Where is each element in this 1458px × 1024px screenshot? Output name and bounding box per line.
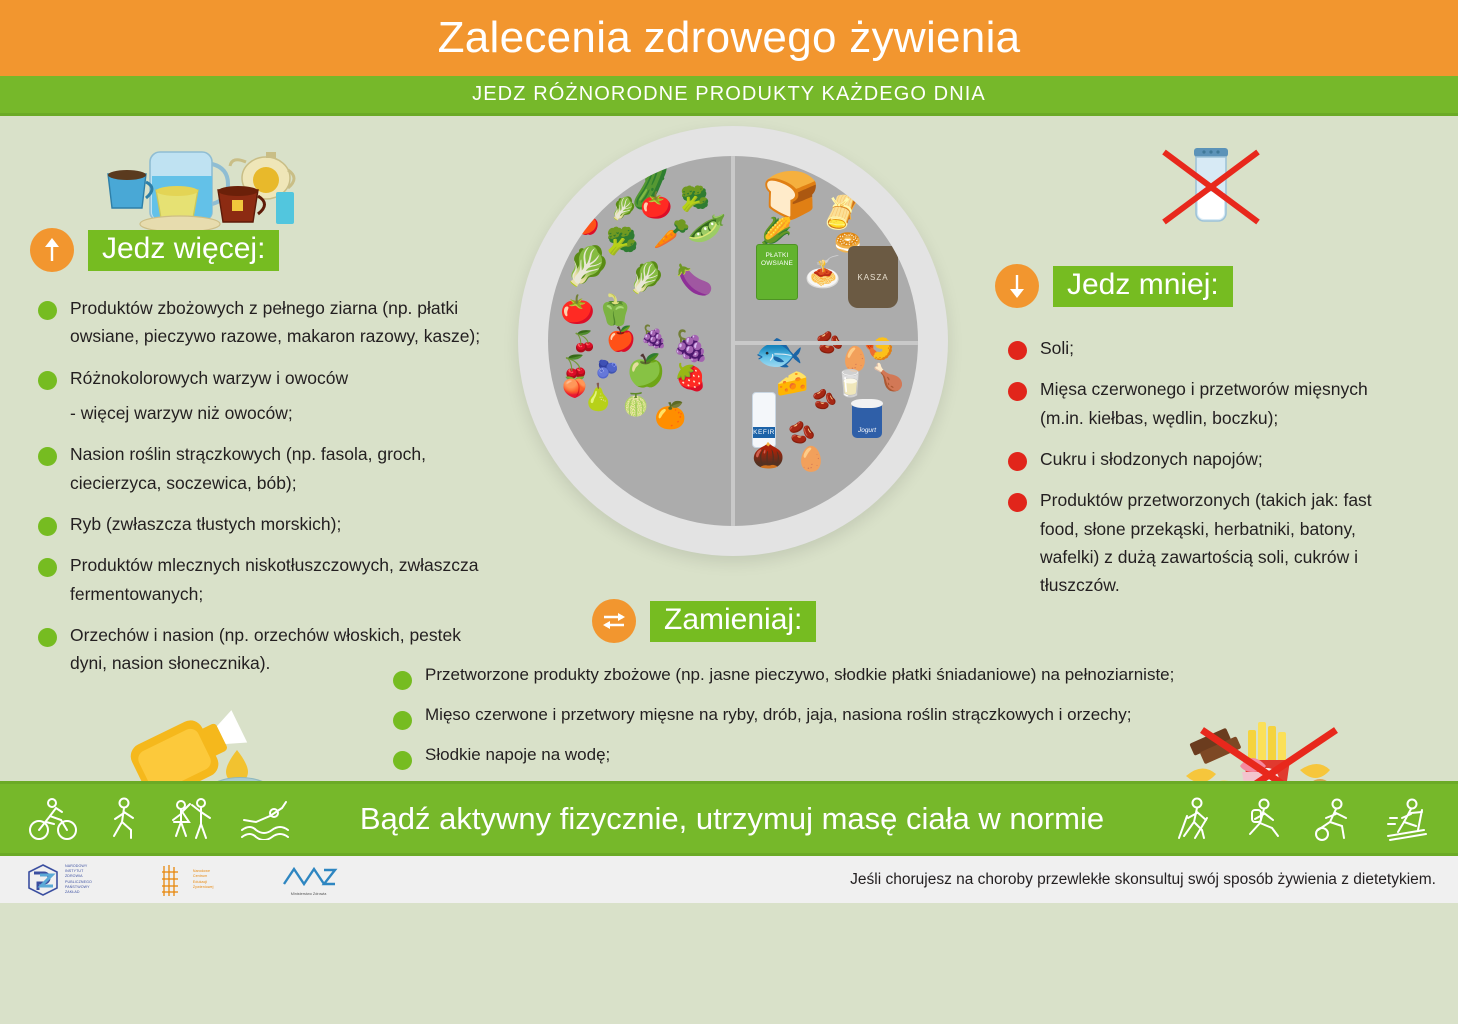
hiking-icon bbox=[1242, 796, 1284, 842]
list-item: Produktów zbożowych z pełnego ziarna (np… bbox=[30, 294, 500, 351]
yogurt-cup-label: Jogurt bbox=[852, 404, 882, 438]
pzh-logo-mark bbox=[26, 863, 60, 897]
football-icon bbox=[1310, 796, 1356, 842]
header-green-bar: JEDZ RÓŻNORODNE PRODUKTY KAŻDEGO DNIA bbox=[0, 76, 1458, 116]
activity-slogan: Bądź aktywny fizycznie, utrzymuj masę ci… bbox=[318, 801, 1146, 837]
eat-less-heading: Jedz mniej: bbox=[995, 264, 1233, 308]
nordic-walking-icon bbox=[1174, 796, 1216, 842]
list-item: Nasion roślin strączkowych (np. fasola, … bbox=[30, 440, 500, 497]
eat-less-list: Soli; Mięsa czerwonego i przetworów mięs… bbox=[1000, 334, 1400, 613]
walking-icon bbox=[104, 796, 142, 842]
page-title: Zalecenia zdrowego żywienia bbox=[438, 13, 1021, 63]
list-item: Słodkie napoje na wodę; bbox=[385, 744, 1225, 767]
list-item: Różnokolorowych warzyw i owoców bbox=[30, 364, 500, 392]
footer-disclaimer: Jeśli chorujesz na choroby przewlekłe sk… bbox=[850, 871, 1436, 889]
cycling-icon bbox=[28, 796, 78, 842]
activity-icons-right bbox=[1146, 796, 1458, 842]
dancing-icon bbox=[168, 796, 214, 842]
eat-less-label: Jedz mniej: bbox=[1053, 266, 1233, 307]
header-orange-bar: Zalecenia zdrowego żywienia bbox=[0, 0, 1458, 76]
list-item: Produktów przetworzonych (takich jak: fa… bbox=[1000, 486, 1400, 599]
list-item: Produktów mlecznych niskotłuszczowych, z… bbox=[30, 551, 500, 608]
plate-divider-horizontal bbox=[733, 341, 918, 345]
page-subtitle: JEDZ RÓŻNORODNE PRODUKTY KAŻDEGO DNIA bbox=[472, 83, 986, 106]
ministry-of-health-logo: Ministerstwo Zdrowia bbox=[280, 864, 338, 896]
footer-logos: NARODOWYINSTYTUTZDROWIA PUBLICZNEGOPAŃST… bbox=[0, 862, 338, 898]
footer-bar: NARODOWYINSTYTUTZDROWIA PUBLICZNEGOPAŃST… bbox=[0, 856, 1458, 903]
list-item: Cukru i słodzonych napojów; bbox=[1000, 445, 1400, 473]
list-item: Mięsa czerwonego i przetworów mięsnych (… bbox=[1000, 375, 1400, 432]
eat-more-label: Jedz więcej: bbox=[88, 230, 279, 271]
plate-inner: 🥒 🥦 🥬 🍅 🍎 🥦 🥕 🫛 🥬 🥬 🍆 🍅 🫑 🍒 🍎 🍇 🍇 🍒 🫐 bbox=[548, 156, 918, 526]
arrow-up-icon bbox=[30, 228, 74, 272]
arrow-down-icon bbox=[995, 264, 1039, 308]
ncez-logo: NarodoweCentrumEdukacjiŻywieniowej bbox=[158, 862, 214, 898]
swap-label: Zamieniaj: bbox=[650, 601, 816, 642]
kefir-bottle-label: KEFIR bbox=[753, 427, 775, 438]
swimming-icon bbox=[240, 798, 290, 840]
swap-heading: Zamieniaj: bbox=[592, 599, 816, 643]
ncez-logo-text: NarodoweCentrumEdukacjiŻywieniowej bbox=[193, 869, 214, 890]
ministry-logo-caption: Ministerstwo Zdrowia bbox=[280, 892, 338, 896]
ministry-logo-mark bbox=[280, 864, 338, 886]
main-content: 🥒 🥦 🥬 🍅 🍎 🥦 🥕 🫛 🥬 🥬 🍆 🍅 🫑 🍒 🍎 🍇 🍇 🍒 🫐 bbox=[0, 116, 1458, 903]
list-item: Soli; bbox=[1000, 334, 1400, 362]
skiing-icon bbox=[1382, 796, 1430, 842]
pzh-logo: NARODOWYINSTYTUTZDROWIA PUBLICZNEGOPAŃST… bbox=[26, 863, 92, 897]
eat-more-heading: Jedz więcej: bbox=[30, 228, 279, 272]
eat-more-list: Produktów zbożowych z pełnego ziarna (np… bbox=[30, 294, 500, 691]
activity-icons-left bbox=[0, 796, 318, 842]
ncez-logo-mark bbox=[158, 862, 188, 898]
list-item: Przetworzone produkty zbożowe (np. jasne… bbox=[385, 664, 1225, 687]
list-item: - więcej warzyw niż owoców; bbox=[30, 399, 500, 427]
pzh-logo-text: NARODOWYINSTYTUTZDROWIA PUBLICZNEGOPAŃST… bbox=[65, 864, 92, 895]
salt-shaker-crossed-icon bbox=[1150, 130, 1280, 242]
activity-bar: Bądź aktywny fizycznie, utrzymuj masę ci… bbox=[0, 781, 1458, 856]
swap-arrows-icon bbox=[592, 599, 636, 643]
healthy-plate-diagram: 🥒 🥦 🥬 🍅 🍎 🥦 🥕 🫛 🥬 🥬 🍆 🍅 🫑 🍒 🍎 🍇 🍇 🍒 🫐 bbox=[518, 126, 948, 556]
list-item: Mięso czerwone i przetwory mięsne na ryb… bbox=[385, 704, 1225, 727]
list-item: Ryb (zwłaszcza tłustych morskich); bbox=[30, 510, 500, 538]
